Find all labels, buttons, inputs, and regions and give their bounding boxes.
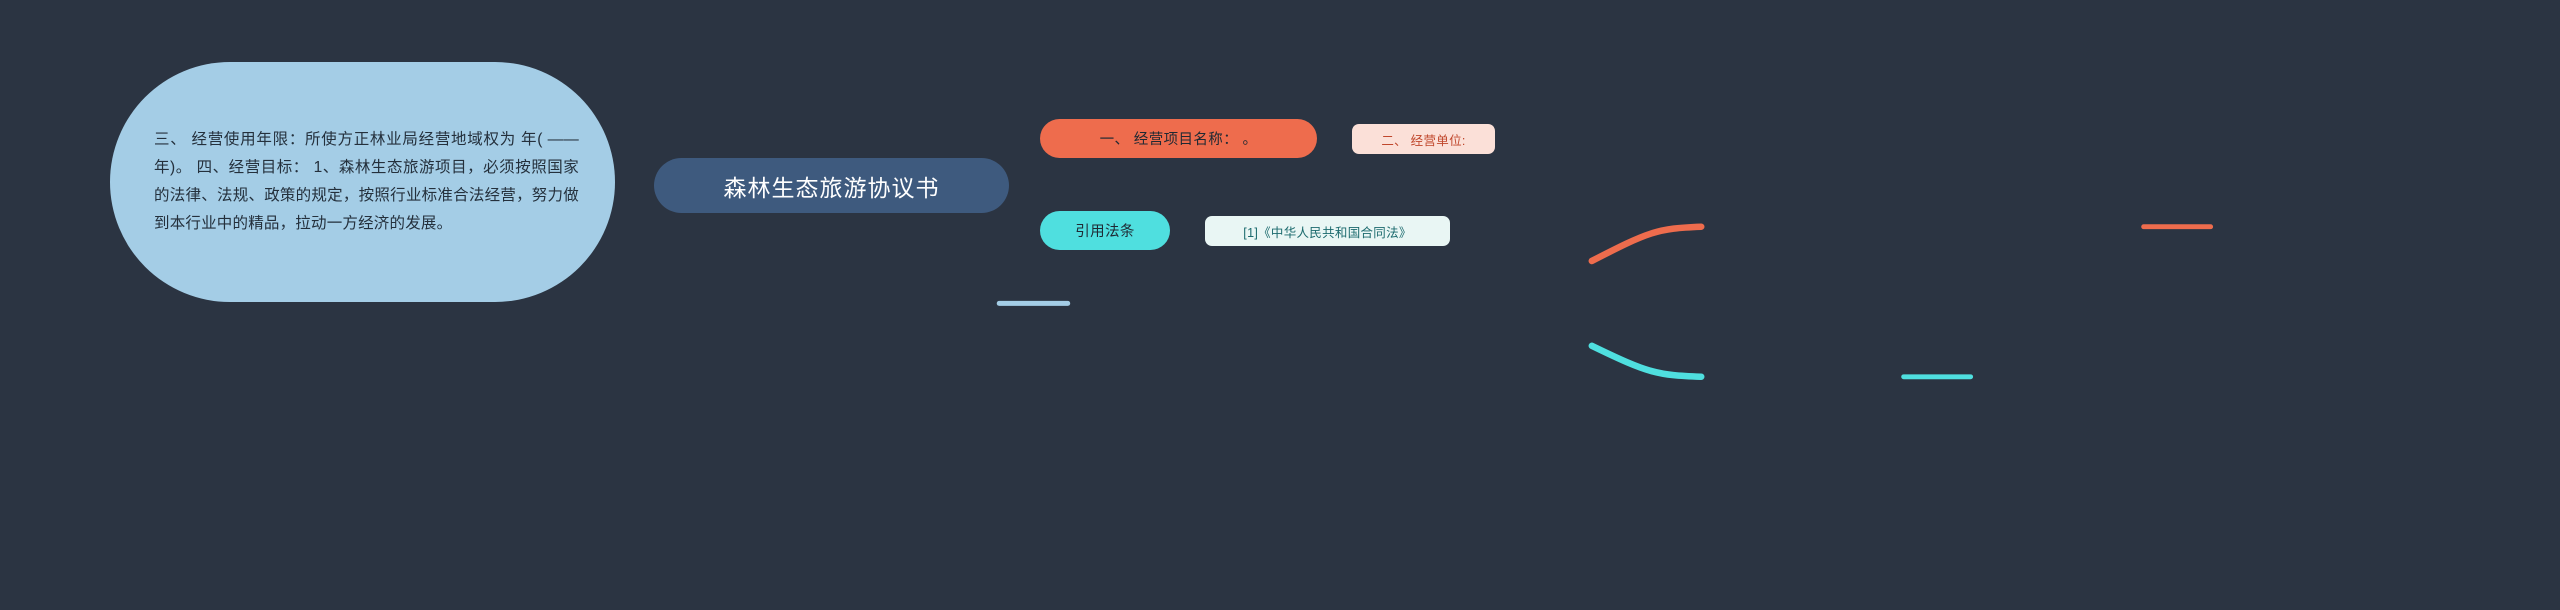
leaf-contract-law[interactable]: [1]《中华人民共和国合同法》 [1205, 216, 1450, 246]
central-node-label: 森林生态旅游协议书 [724, 169, 940, 203]
leaf-operating-unit[interactable]: 二、 经营单位: [1352, 124, 1495, 154]
branch-project-name[interactable]: 一、 经营项目名称： 。 [1040, 119, 1317, 158]
leaf-contract-law-label: [1]《中华人民共和国合同法》 [1243, 222, 1411, 241]
branch-cited-law-label: 引用法条 [1075, 220, 1135, 241]
central-node[interactable]: 森林生态旅游协议书 [654, 158, 1009, 213]
edge-central-to-cyan [1592, 346, 1701, 377]
branch-cited-law[interactable]: 引用法条 [1040, 211, 1170, 250]
branch-project-name-label: 一、 经营项目名称： 。 [1100, 128, 1258, 149]
root-body-text: 三、 经营使用年限：所使方正林业局经营地域权为 年( —— 年)。 四、经营目标… [154, 126, 579, 238]
leaf-operating-unit-label: 二、 经营单位: [1381, 130, 1465, 149]
mindmap-canvas: 三、 经营使用年限：所使方正林业局经营地域权为 年( —— 年)。 四、经营目标… [0, 0, 2560, 610]
root-body-node[interactable]: 三、 经营使用年限：所使方正林业局经营地域权为 年( —— 年)。 四、经营目标… [110, 62, 615, 302]
edge-central-to-orange [1592, 227, 1701, 261]
